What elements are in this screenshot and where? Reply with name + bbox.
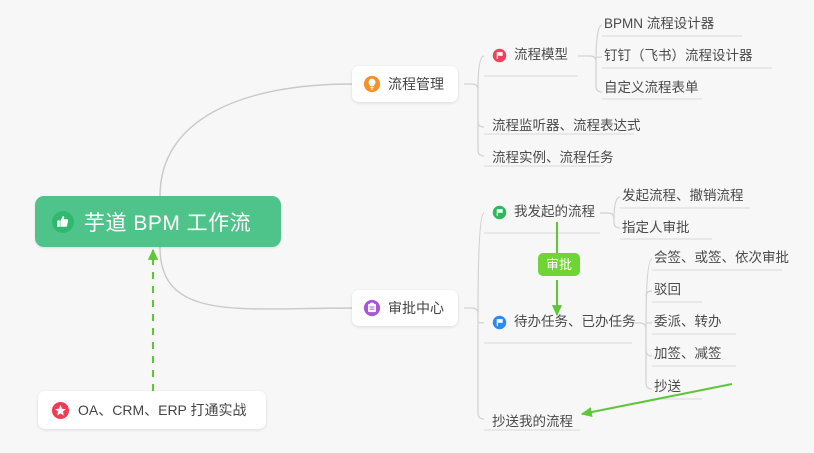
edge-tasks-to-countersign xyxy=(646,259,652,329)
edge-tasks-to-addsign xyxy=(646,350,652,356)
leaf-label-bpmn-designer: BPMN 流程设计器 xyxy=(604,17,714,31)
leaf-label-cc-my-flows: 抄送我的流程 xyxy=(492,415,573,429)
callout-node-integration[interactable]: OA、CRM、ERP 打通实战 xyxy=(38,391,266,429)
leaf-reject[interactable]: 驳回 xyxy=(654,277,681,305)
edge-model-to-dingtalk xyxy=(596,57,602,58)
leaf-cc-my-flows[interactable]: 抄送我的流程 xyxy=(492,409,573,437)
edge-myflows-to-start xyxy=(614,197,620,219)
thumbs-up-icon xyxy=(51,210,75,234)
leaf-label-designated-approver: 指定人审批 xyxy=(622,221,690,235)
edge-ac-to-tasks xyxy=(478,322,484,323)
leaf-label-add-remove-sign: 加签、减签 xyxy=(654,347,722,361)
leaf-add-remove-sign[interactable]: 加签、减签 xyxy=(654,341,722,369)
leaf-label-todo-done-tasks: 待办任务、已办任务 xyxy=(514,315,636,329)
branch-node-process-management[interactable]: 流程管理 xyxy=(352,66,458,102)
edge-ac-to-my-flows xyxy=(478,213,484,314)
approval-tag-label: 审批 xyxy=(546,257,572,272)
leaf-label-process-instance: 流程实例、流程任务 xyxy=(492,151,614,165)
leaf-carbon-copy[interactable]: 抄送 xyxy=(654,374,681,402)
flag-icon xyxy=(492,315,507,330)
lightbulb-icon xyxy=(363,75,381,93)
edge-model-trunk xyxy=(578,56,602,92)
leaf-dingtalk-designer[interactable]: 钉钉（飞书）流程设计器 xyxy=(604,43,753,71)
leaf-delegate-transfer[interactable]: 委派、转办 xyxy=(654,309,722,337)
leaf-label-countersign: 会签、或签、依次审批 xyxy=(654,251,789,265)
clipboard-icon xyxy=(363,299,381,317)
branch-label-approval-center: 审批中心 xyxy=(388,298,444,318)
leaf-label-custom-form: 自定义流程表单 xyxy=(604,81,699,95)
edge-root-to-approval-center xyxy=(160,247,352,309)
leaf-label-start-cancel-flow: 发起流程、撤销流程 xyxy=(622,189,744,203)
callout-label: OA、CRM、ERP 打通实战 xyxy=(78,400,247,420)
approval-tag[interactable]: 审批 xyxy=(538,253,580,276)
leaf-todo-done-tasks[interactable]: 待办任务、已办任务 xyxy=(492,309,636,337)
root-label: 芋道 BPM 工作流 xyxy=(84,207,251,237)
edge-pm-trunk xyxy=(464,84,484,156)
leaf-process-instance[interactable]: 流程实例、流程任务 xyxy=(492,145,614,173)
flag-icon xyxy=(492,48,507,63)
flag-icon xyxy=(492,205,507,220)
leaf-bpmn-designer[interactable]: BPMN 流程设计器 xyxy=(604,11,714,39)
edge-pm-to-listener xyxy=(478,122,484,127)
edge-myflows-trunk xyxy=(600,213,620,228)
root-node[interactable]: 芋道 BPM 工作流 xyxy=(35,196,281,247)
leaf-process-model[interactable]: 流程模型 xyxy=(492,42,568,70)
leaf-label-process-model: 流程模型 xyxy=(514,48,568,62)
edge-root-to-process-management xyxy=(160,84,352,196)
leaf-process-listener[interactable]: 流程监听器、流程表达式 xyxy=(492,113,641,141)
leaf-countersign[interactable]: 会签、或签、依次审批 xyxy=(654,245,789,273)
star-icon xyxy=(51,401,70,420)
leaf-label-my-initiated-flows: 我发起的流程 xyxy=(514,205,595,219)
edge-ac-trunk xyxy=(464,308,484,419)
leaf-custom-form[interactable]: 自定义流程表单 xyxy=(604,75,699,103)
branch-node-approval-center[interactable]: 审批中心 xyxy=(352,290,458,326)
edge-pm-to-model xyxy=(478,56,484,90)
leaf-label-carbon-copy: 抄送 xyxy=(654,380,681,394)
leaf-label-delegate-transfer: 委派、转办 xyxy=(654,315,722,329)
branch-label-process-management: 流程管理 xyxy=(388,74,444,94)
leaf-label-process-listener: 流程监听器、流程表达式 xyxy=(492,119,641,133)
mindmap-canvas: 芋道 BPM 工作流 流程管理 审批中心 xyxy=(0,0,814,453)
leaf-my-initiated-flows[interactable]: 我发起的流程 xyxy=(492,199,595,227)
leaf-designated-approver[interactable]: 指定人审批 xyxy=(622,215,690,243)
edge-model-to-bpmn xyxy=(596,25,602,62)
leaf-label-reject: 驳回 xyxy=(654,283,681,297)
leaf-label-dingtalk-designer: 钉钉（飞书）流程设计器 xyxy=(604,49,753,63)
edge-tasks-to-reject xyxy=(646,291,652,296)
leaf-start-cancel-flow[interactable]: 发起流程、撤销流程 xyxy=(622,183,744,211)
